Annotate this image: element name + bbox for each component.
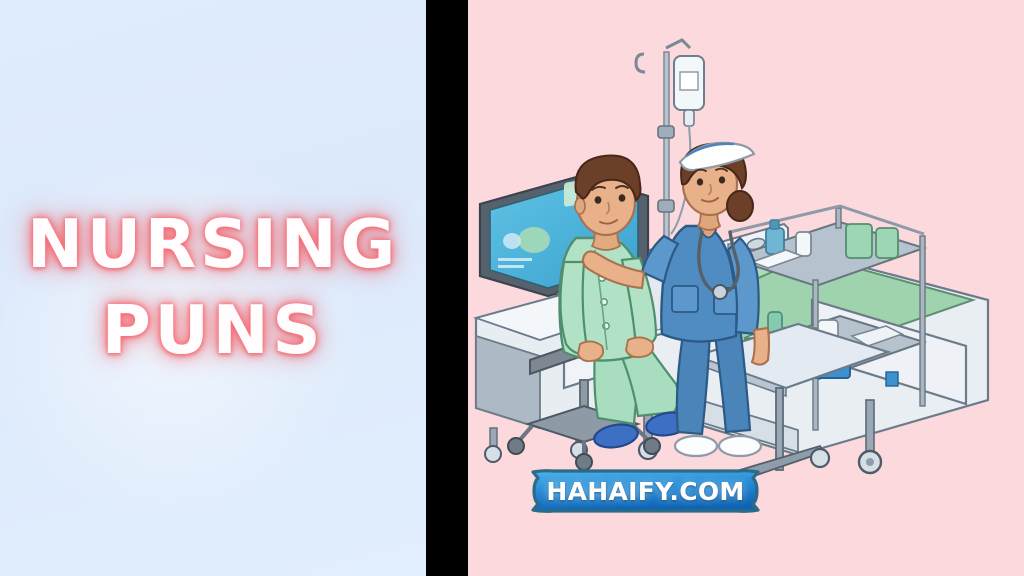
page-title: NURSING PUNS (0, 209, 426, 366)
title-line-puns: PUNS (0, 295, 426, 367)
title-line-nursing: NURSING (0, 209, 426, 281)
brand-badge[interactable]: HAHAIFY.COM (519, 468, 772, 514)
brand-badge-label: HAHAIFY.COM (546, 477, 744, 506)
left-title-panel: NURSING PUNS (0, 0, 426, 576)
poster-canvas: NURSING PUNS (0, 0, 1024, 576)
panel-divider (426, 0, 468, 576)
right-illustration-panel: HAHAIFY.COM (468, 0, 1024, 576)
